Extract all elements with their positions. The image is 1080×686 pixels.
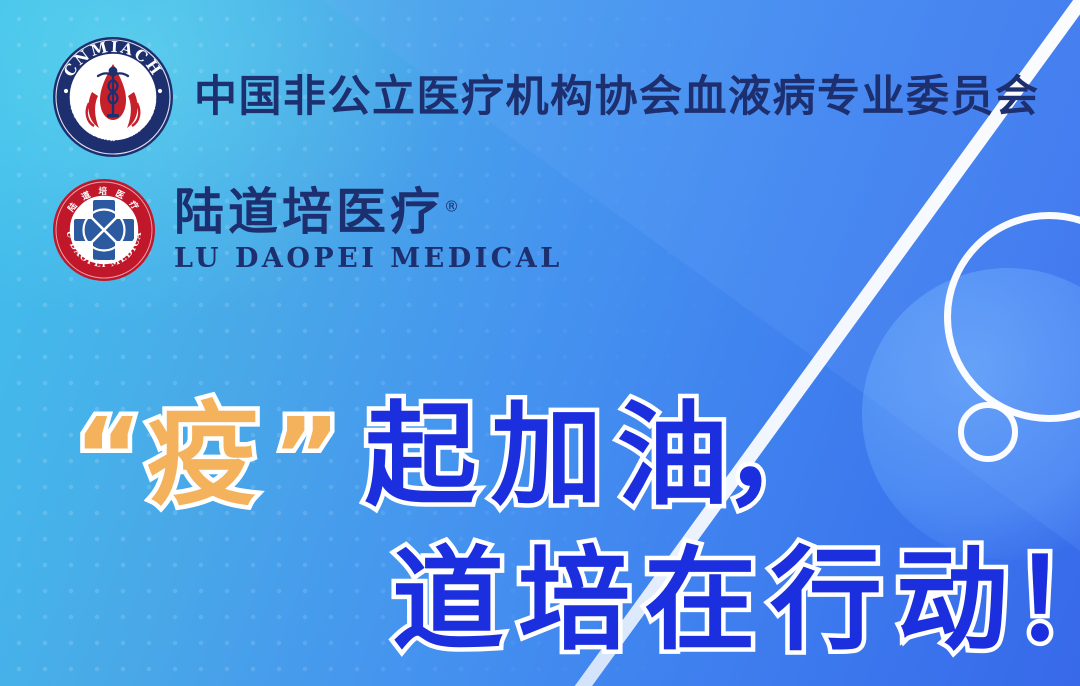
headline-char-dong: 动 xyxy=(896,545,1008,657)
lu-daopei-emblem: 陆 道 培 医 疗 LU DAOPEI MEDICAL xyxy=(52,178,156,282)
headline-comma: ， xyxy=(723,400,835,512)
headline-char-qi: 起 xyxy=(365,400,477,512)
headline-char-xing: 行 xyxy=(770,545,882,657)
association-title: 中国非公立医疗机构协会血液病专业委员会 xyxy=(194,76,1040,119)
headline-exclamation: ！ xyxy=(1012,545,1080,657)
brand-name-cn-text: 陆道培医疗 xyxy=(174,183,444,241)
headline-char-you: 油 xyxy=(617,400,729,512)
headline-char-jia: 加 xyxy=(491,400,603,512)
poster-canvas: CNMIACH 中国非公立医疗机构协会血液病专业委员会 xyxy=(0,0,1080,686)
soft-blue-blob xyxy=(862,268,1080,560)
brand-header: 陆 道 培 医 疗 LU DAOPEI MEDICAL 陆道培医疗® LU DA… xyxy=(52,178,563,282)
headline-line-1: “ 疫 ” 起 加 油 ， xyxy=(74,400,835,512)
headline-line-2: 道 培 在 行 动 ！ xyxy=(392,545,1080,657)
headline-quote-open: “ xyxy=(74,404,142,508)
brand-name-cn: 陆道培医疗® xyxy=(174,186,563,239)
registered-mark: ® xyxy=(444,198,459,216)
association-header: CNMIACH 中国非公立医疗机构协会血液病专业委员会 xyxy=(52,36,1040,158)
headline-char-zai: 在 xyxy=(644,545,756,657)
large-white-ring xyxy=(944,212,1080,422)
headline-highlight-char: 疫 xyxy=(146,400,258,512)
brand-text-block: 陆道培医疗® LU DAOPEI MEDICAL xyxy=(174,186,563,274)
small-white-ring xyxy=(958,402,1018,462)
headline-char-dao: 道 xyxy=(392,545,504,657)
headline-quote-close: ” xyxy=(272,404,340,508)
cnmiach-emblem: CNMIACH 中国非公立医疗机构协会血液病专业委员会 xyxy=(52,36,174,158)
brand-name-en: LU DAOPEI MEDICAL xyxy=(174,243,563,274)
headline-char-pei: 培 xyxy=(518,545,630,657)
